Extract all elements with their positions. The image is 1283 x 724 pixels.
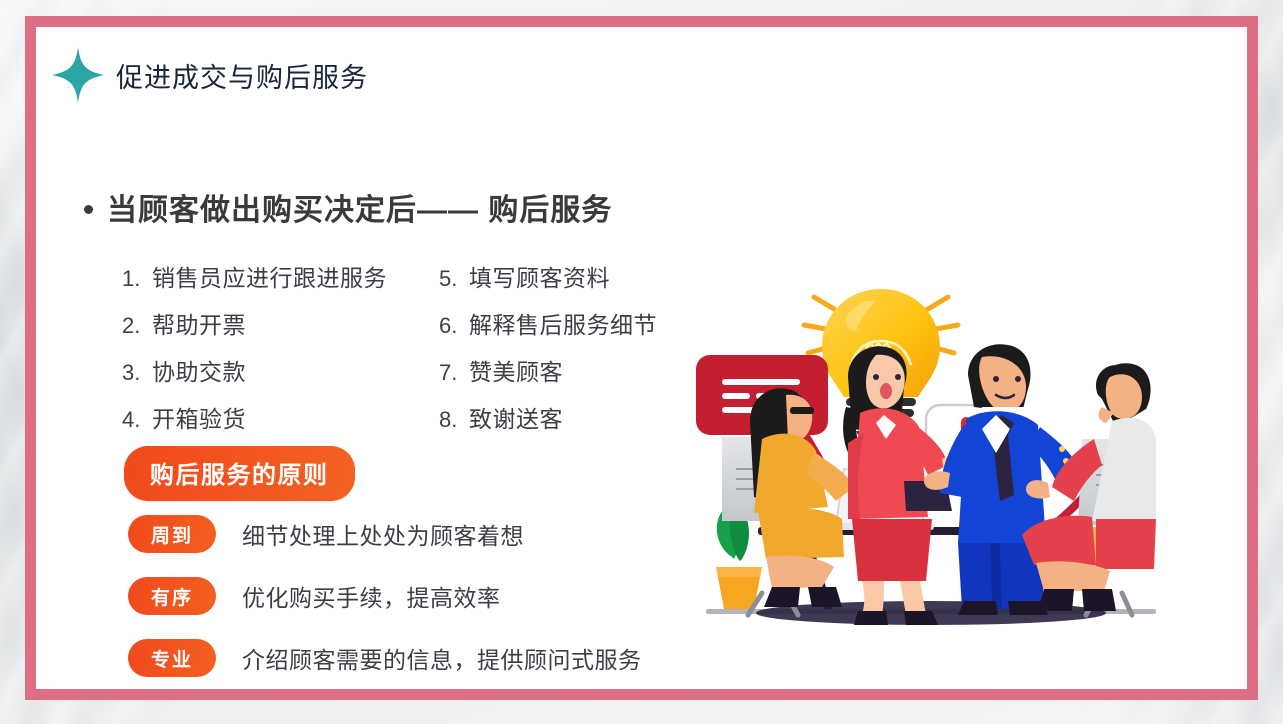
principles-title-badge: 购后服务的原则 [124, 446, 355, 501]
list-item-label: 填写顾客资料 [469, 259, 610, 293]
list-item-label: 解释售后服务细节 [469, 306, 657, 340]
list-item-label: 协助交款 [152, 353, 246, 387]
slide-white-card: 促进成交与购后服务 当顾客做出购买决定后—— 购后服务 1.销售员应进行跟进服务… [36, 27, 1247, 689]
list-item-index: 8. [439, 407, 469, 433]
principle-tag-badge: 有序 [128, 577, 216, 615]
list-item-index: 7. [439, 360, 469, 386]
list-item: 6.解释售后服务细节 [439, 306, 657, 340]
principle-rows: 周到细节处理上处处为顾客着想有序优化购买手续，提高效率专业介绍顾客需要的信息，提… [128, 515, 642, 701]
slide-header: 促进成交与购后服务 [50, 45, 368, 105]
principle-description: 优化购买手续，提高效率 [242, 579, 501, 613]
list-item-index: 1. [122, 266, 152, 292]
main-heading: 当顾客做出购买决定后—— 购后服务 [84, 185, 612, 229]
list-item-index: 6. [439, 313, 469, 339]
list-item-label: 帮助开票 [152, 306, 246, 340]
list-item-label: 赞美顾客 [469, 353, 563, 387]
list-item: 1.销售员应进行跟进服务 [122, 259, 387, 293]
list-item-index: 2. [122, 313, 152, 339]
principle-description: 介绍顾客需要的信息，提供顾问式服务 [242, 641, 642, 675]
numbered-lists: 1.销售员应进行跟进服务2.帮助开票3.协助交款4.开箱验货 5.填写顾客资料6… [122, 259, 657, 447]
list-item: 8.致谢送客 [439, 400, 657, 434]
principle-row: 有序优化购买手续，提高效率 [128, 577, 642, 615]
page-title: 促进成交与购后服务 [116, 56, 368, 95]
list-item-index: 3. [122, 360, 152, 386]
list-item: 3.协助交款 [122, 353, 387, 387]
business-team-meeting-illustration [696, 257, 1156, 677]
slide-pink-frame: 促进成交与购后服务 当顾客做出购买决定后—— 购后服务 1.销售员应进行跟进服务… [25, 16, 1258, 700]
list-item-label: 销售员应进行跟进服务 [152, 259, 387, 293]
list-item: 4.开箱验货 [122, 400, 387, 434]
principle-description: 细节处理上处处为顾客着想 [242, 517, 524, 551]
list-item: 2.帮助开票 [122, 306, 387, 340]
numbered-list-left: 1.销售员应进行跟进服务2.帮助开票3.协助交款4.开箱验货 [122, 259, 387, 447]
main-heading-text: 当顾客做出购买决定后—— 购后服务 [107, 185, 612, 229]
principle-tag-badge: 专业 [128, 639, 216, 677]
bullet-dot-icon [84, 205, 93, 214]
list-item: 7.赞美顾客 [439, 353, 657, 387]
principle-tag-badge: 周到 [128, 515, 216, 553]
sparkle-star-icon [50, 45, 106, 105]
principle-row: 专业介绍顾客需要的信息，提供顾问式服务 [128, 639, 642, 677]
list-item-label: 开箱验货 [152, 400, 246, 434]
numbered-list-right: 5.填写顾客资料6.解释售后服务细节7.赞美顾客8.致谢送客 [439, 259, 657, 447]
list-item-index: 5. [439, 266, 469, 292]
principle-row: 周到细节处理上处处为顾客着想 [128, 515, 642, 553]
list-item-label: 致谢送客 [469, 400, 563, 434]
list-item: 5.填写顾客资料 [439, 259, 657, 293]
list-item-index: 4. [122, 407, 152, 433]
